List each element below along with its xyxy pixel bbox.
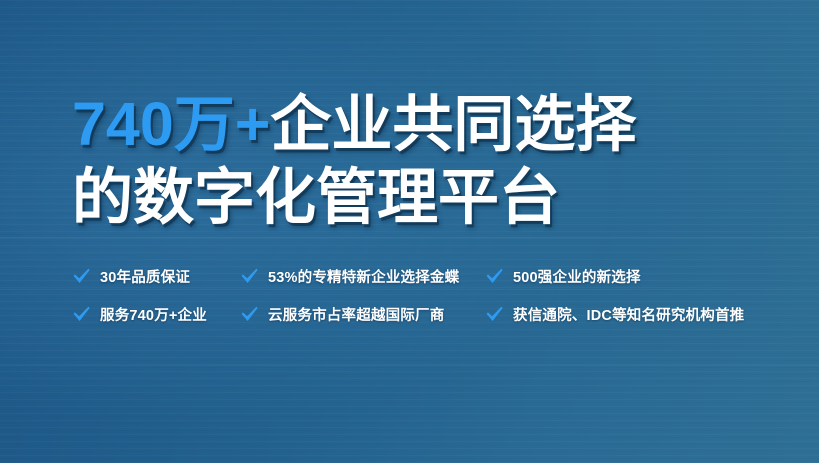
feature-item: 30年品质保证	[72, 266, 240, 287]
headline-line-2: 的数字化管理平台	[72, 167, 772, 228]
check-icon	[240, 267, 259, 286]
feature-item: 云服务市占率超越国际厂商	[240, 304, 485, 325]
feature-item: 服务740万+企业	[72, 304, 240, 325]
feature-label: 53%的专精特新企业选择金蝶	[268, 266, 459, 287]
promo-banner: 740万+企业共同选择 的数字化管理平台 30年品质保证	[0, 0, 819, 463]
feature-row: 服务740万+企业 云服务市占率超越国际厂商	[72, 304, 782, 342]
check-icon	[485, 305, 504, 324]
check-icon	[72, 267, 91, 286]
feature-list: 30年品质保证 53%的专精特新企业选择金蝶	[72, 266, 782, 342]
feature-row: 30年品质保证 53%的专精特新企业选择金蝶	[72, 266, 782, 304]
feature-label: 500强企业的新选择	[513, 266, 641, 287]
headline-highlight-number: 740万+	[72, 90, 270, 158]
feature-item: 500强企业的新选择	[485, 266, 775, 287]
check-icon	[485, 267, 504, 286]
feature-item: 获信通院、IDC等知名研究机构首推	[485, 304, 775, 325]
feature-label: 30年品质保证	[100, 266, 190, 287]
check-icon	[72, 305, 91, 324]
feature-label: 获信通院、IDC等知名研究机构首推	[513, 304, 744, 325]
headline-line-1: 740万+企业共同选择	[72, 94, 772, 155]
feature-label: 云服务市占率超越国际厂商	[268, 304, 444, 325]
feature-label: 服务740万+企业	[100, 304, 207, 325]
headline: 740万+企业共同选择 的数字化管理平台	[72, 94, 772, 228]
feature-item: 53%的专精特新企业选择金蝶	[240, 266, 485, 287]
check-icon	[240, 305, 259, 324]
headline-line-1-rest: 企业共同选择	[270, 90, 636, 158]
